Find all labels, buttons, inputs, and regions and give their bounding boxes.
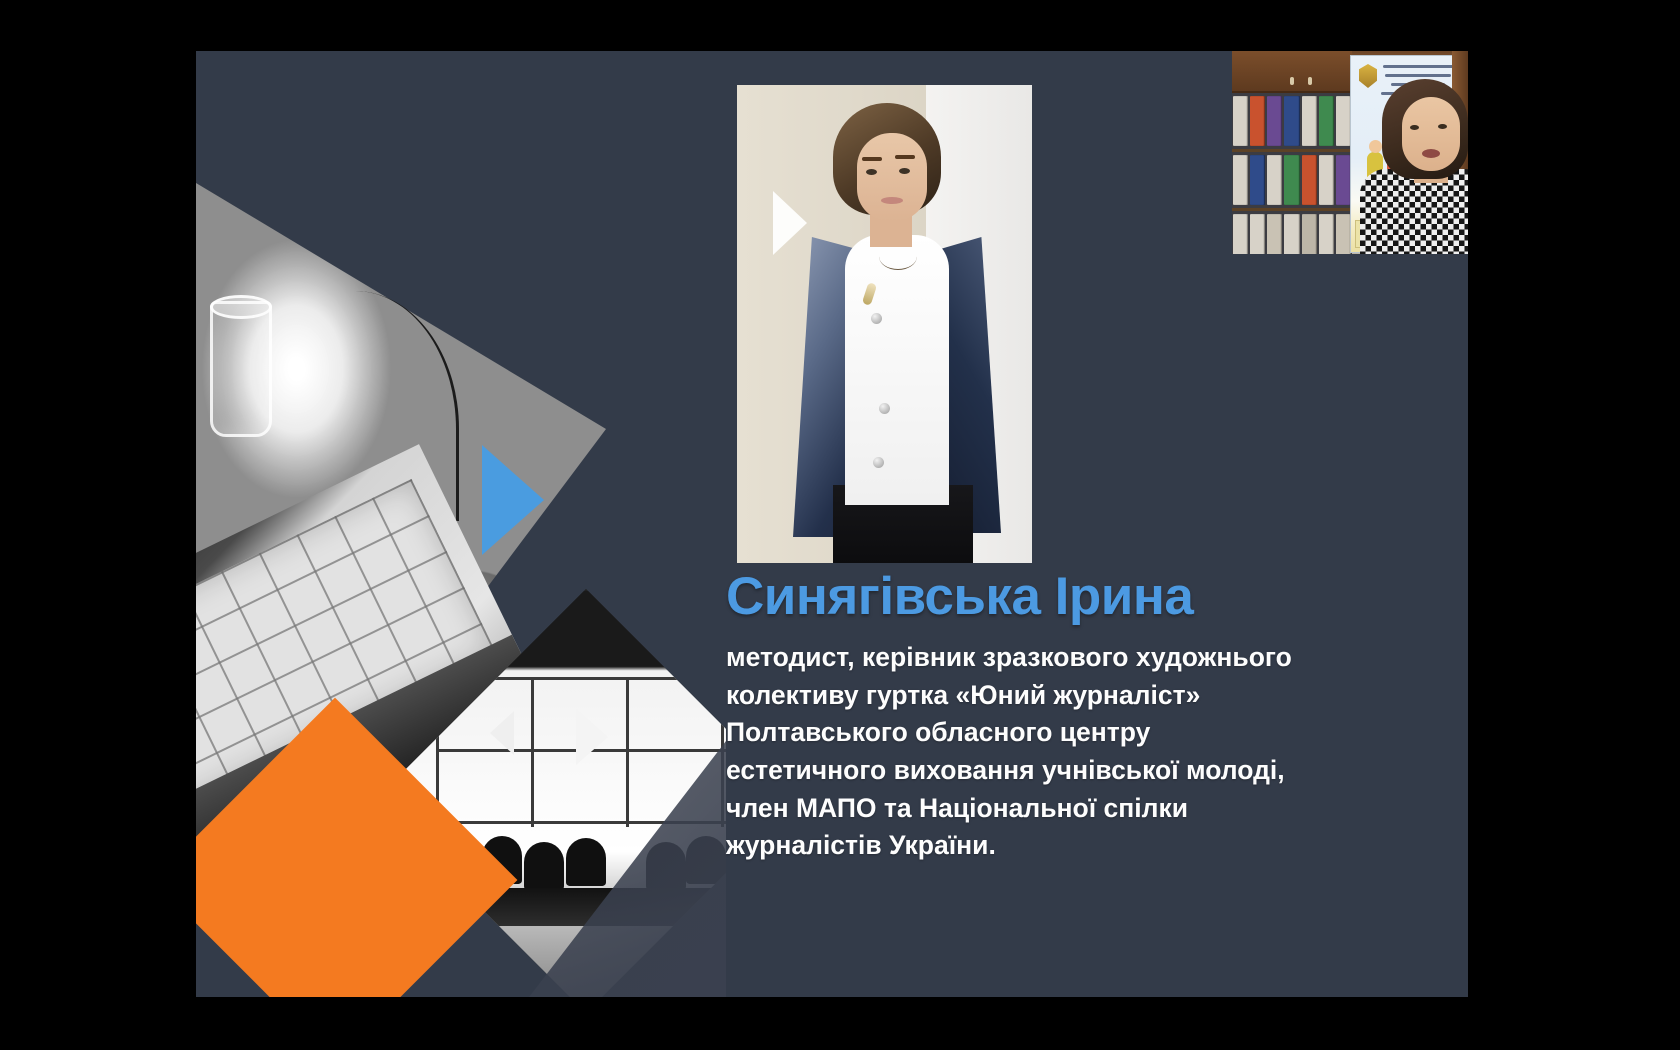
body-line: колективу гуртка «Юний журналіст» — [726, 677, 1386, 715]
binder — [1284, 96, 1299, 146]
blue-triangle-icon — [482, 445, 544, 555]
binder — [1284, 155, 1299, 205]
eyebrow-left — [862, 157, 882, 161]
binder — [1267, 214, 1282, 254]
binder — [1233, 96, 1248, 146]
webcam-left-padding — [1150, 51, 1232, 254]
binder — [1319, 155, 1334, 205]
binder — [1250, 96, 1265, 146]
binder — [1302, 155, 1317, 205]
portrait-white-triangle — [773, 191, 807, 255]
presenter-webcam-overlay[interactable] — [1150, 51, 1468, 254]
poster-title-line — [1385, 74, 1451, 77]
presenter-eye-left — [1410, 125, 1419, 130]
binder — [1267, 155, 1282, 205]
binder — [1267, 96, 1282, 146]
binder — [1319, 214, 1334, 254]
cabinet-knob-icon — [1308, 77, 1312, 85]
body-line: Полтавського обласного центру — [726, 714, 1386, 752]
binder — [1336, 96, 1351, 146]
slide-text-block: Синягівська Ірина методист, керівник зра… — [726, 569, 1426, 865]
pendant-lamp-icon — [628, 591, 642, 613]
pendant-lamp-icon — [500, 591, 514, 613]
page-title: Синягівська Ірина — [726, 569, 1426, 625]
binder — [1233, 155, 1248, 205]
presenter-face — [1402, 97, 1460, 171]
white-triangle-left-icon — [490, 711, 514, 755]
coat-of-arms-icon — [1359, 64, 1377, 88]
binder — [1284, 214, 1299, 254]
presenter-eye-right — [1438, 124, 1447, 129]
eyebrow-right — [895, 155, 915, 159]
poster-title-line — [1383, 65, 1457, 68]
white-triangle-right-icon — [576, 709, 608, 765]
white-top — [845, 235, 949, 505]
eye-left — [866, 169, 877, 175]
silhouette — [524, 842, 564, 890]
mug-body — [210, 301, 272, 437]
binder-shelf — [1232, 93, 1352, 152]
cabinet-knob-icon — [1290, 77, 1294, 85]
binder — [1233, 214, 1248, 254]
body-line: естетичного виховання учнівської молоді, — [726, 752, 1386, 790]
child-head — [1369, 140, 1382, 153]
binder — [1302, 214, 1317, 254]
lips — [881, 197, 903, 204]
necklace — [879, 243, 917, 270]
face — [857, 133, 927, 221]
screen-root: Синягівська Ірина методист, керівник зра… — [0, 0, 1680, 1050]
binder — [1250, 214, 1265, 254]
jacket-button — [871, 313, 882, 324]
silhouette — [566, 838, 606, 886]
jacket-button — [879, 403, 890, 414]
binder-shelf — [1232, 211, 1352, 254]
binder — [1336, 214, 1351, 254]
presenter-portrait-photo — [737, 85, 1032, 563]
binder — [1336, 155, 1351, 205]
webcam-scene — [1232, 51, 1468, 254]
jacket-button — [873, 457, 884, 468]
binder — [1250, 155, 1265, 205]
body-line: методист, керівник зразкового художнього — [726, 639, 1386, 677]
decorative-collage — [196, 51, 726, 997]
body-line: член МАПО та Національної спілки — [726, 790, 1386, 828]
binder — [1302, 96, 1317, 146]
binder — [1319, 96, 1334, 146]
slide-description: методист, керівник зразкового художнього… — [726, 639, 1386, 865]
eye-right — [899, 168, 910, 174]
body-line: журналістів України. — [726, 827, 1386, 865]
presenter-mouth — [1422, 149, 1440, 158]
wooden-cabinet — [1232, 51, 1352, 93]
binder-shelf — [1232, 152, 1352, 211]
